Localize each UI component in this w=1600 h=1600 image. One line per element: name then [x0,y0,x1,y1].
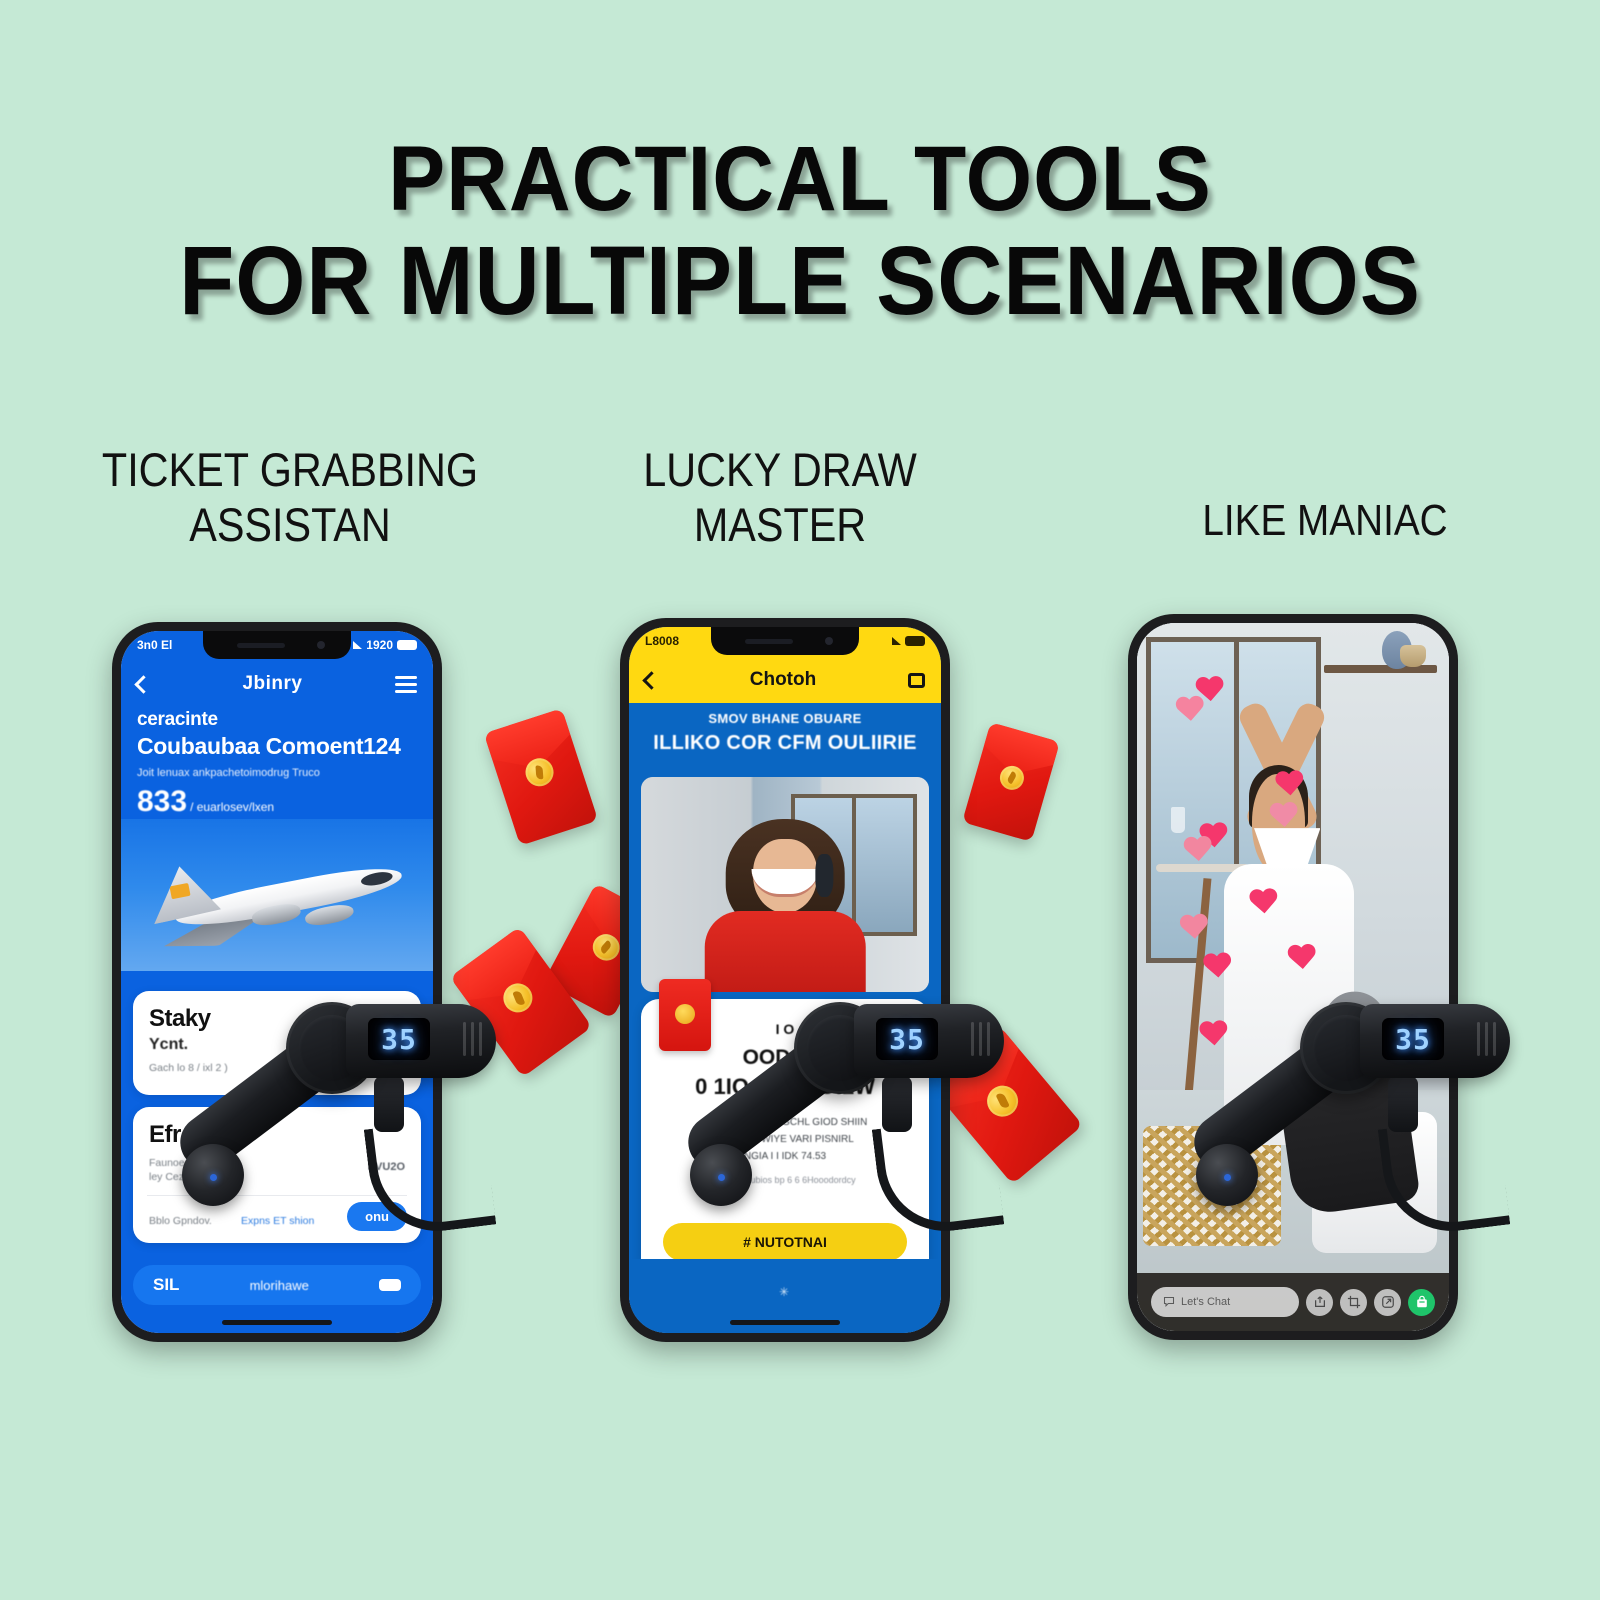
app-navbar: Jbinry [121,661,433,707]
phone3-screen: Let's Chat [1137,623,1449,1331]
heart-icon [1174,696,1199,720]
app-title: Chotoh [750,669,816,691]
promo-heading: SMOV BHANE OBUARE ILLIKO COR CFM OULIIRI… [629,711,941,755]
title-line-2: FOR MULTIPLE SCENARIOS [56,229,1544,334]
home-indicator [222,1320,332,1325]
room-shelf [1324,665,1436,673]
massage-gun-device: 35 [1192,980,1512,1220]
page-title: PRACTICAL TOOLS FOR MULTIPLE SCENARIOS [0,130,1600,334]
app-navbar: Chotoh [629,657,941,703]
heart-icon [1286,944,1314,970]
chevron-left-icon[interactable] [642,671,660,689]
external-link-icon[interactable] [1374,1289,1401,1316]
device-display-value: 35 [1395,1023,1431,1056]
app-title: Jbinry [242,673,302,695]
heart-icon [1274,770,1314,807]
hero-text-block: ceracinte Coubaubaa Comoent124 Joit lenu… [121,709,433,819]
red-packet [962,722,1060,842]
device-display-value: 35 [889,1023,925,1056]
section-label-line-2: MASTER [608,498,951,553]
glass-object [1171,807,1185,833]
usb-c-connector [374,1076,404,1132]
massage-gun-device: 35 [686,980,1006,1220]
front-camera-icon [825,637,833,645]
battery-icon [905,636,925,646]
section-label-line-1: LUCKY DRAW [608,443,951,498]
promo-line-2: ILLIKO COR CFM OULIIRIE [629,732,941,755]
signal-icon [353,641,362,649]
status-time: L8008 [645,634,679,648]
hero-subtitle: Joit lenuax ankpachetoimodrug Truco [137,767,417,779]
shopping-bag-icon[interactable] [1408,1289,1435,1316]
hero-big-number: 833/ euarlosev/lxen [137,785,417,819]
airplane-photo [121,819,433,971]
device-massage-head [182,1144,244,1206]
claim-button[interactable]: # NUTOTNAI [663,1223,907,1261]
status-time: 3n0 El [137,638,172,652]
chevron-left-icon[interactable] [134,675,152,693]
heart-icon [1178,914,1201,935]
hamburger-menu-icon[interactable] [395,676,417,693]
chat-bar: Let's Chat [1137,1273,1449,1331]
section-label-line-1: TICKET GRABBING [70,443,510,498]
bottom-glyph: ✳ [779,1285,791,1299]
battery-icon [397,640,417,650]
title-line-1: PRACTICAL TOOLS [56,130,1544,229]
front-camera-icon [317,641,325,649]
device-vents [1477,1022,1496,1056]
status-signal-text: 1920 [366,638,393,652]
device-body: 35 [1360,1004,1510,1078]
red-packet [484,708,598,846]
device-body: 35 [346,1004,496,1078]
device-led-display: 35 [1382,1018,1444,1060]
usb-c-connector [1388,1076,1418,1132]
hero-number-suffix: / euarlosev/lxen [190,800,274,814]
usb-c-connector [882,1076,912,1132]
status-indicators [892,636,925,646]
crop-icon[interactable] [1340,1289,1367,1316]
battery-icon [379,1279,401,1291]
heart-icon [1268,802,1298,830]
signal-icon [892,637,901,645]
chat-input[interactable]: Let's Chat [1151,1287,1299,1317]
video-thumbnail[interactable] [641,777,929,992]
hero-line-large: Coubaubaa Comoent124 [137,733,417,760]
square-icon[interactable] [908,673,925,688]
chat-bubble-icon [1163,1296,1175,1308]
home-indicator [730,1320,840,1325]
massage-gun-device: 35 [178,980,498,1220]
chat-placeholder: Let's Chat [1181,1296,1230,1308]
promo-line-1: SMOV BHANE OBUARE [629,711,941,726]
heart-icon [1182,836,1212,863]
device-display-value: 35 [381,1023,417,1056]
bottom-bar-left: SIL [153,1275,179,1295]
earpiece-speaker [745,639,793,644]
airplane-illustration [131,819,433,971]
section-label-line-2: ASSISTAN [70,498,510,553]
bottom-bar-center: mlorihawe [250,1278,309,1293]
section-label-like-maniac: LIKE MANIAC [1140,495,1510,546]
share-icon[interactable] [1306,1289,1333,1316]
device-vents [971,1022,990,1056]
earpiece-speaker [237,643,285,648]
status-indicators: 1920 [353,638,417,652]
section-label-lucky-draw: LUCKY DRAW MASTER [608,443,951,552]
bottom-action-bar[interactable]: SIL mlorihawe [133,1265,421,1305]
phone-like-maniac: Let's Chat [1128,614,1458,1340]
device-massage-head [690,1144,752,1206]
device-led-display: 35 [876,1018,938,1060]
section-label-ticket-grabbing: TICKET GRABBING ASSISTAN [70,443,510,552]
notch [711,627,859,655]
heart-icon [1248,888,1286,923]
device-massage-head [1196,1144,1258,1206]
device-body: 35 [854,1004,1004,1078]
hero-line-small: ceracinte [137,709,417,731]
hero-number-value: 833 [137,785,187,818]
device-vents [463,1022,482,1056]
device-led-display: 35 [368,1018,430,1060]
headset-icon [816,854,834,896]
notch [203,631,351,659]
video-person [704,816,865,992]
section-label-line-1: LIKE MANIAC [1140,495,1510,546]
